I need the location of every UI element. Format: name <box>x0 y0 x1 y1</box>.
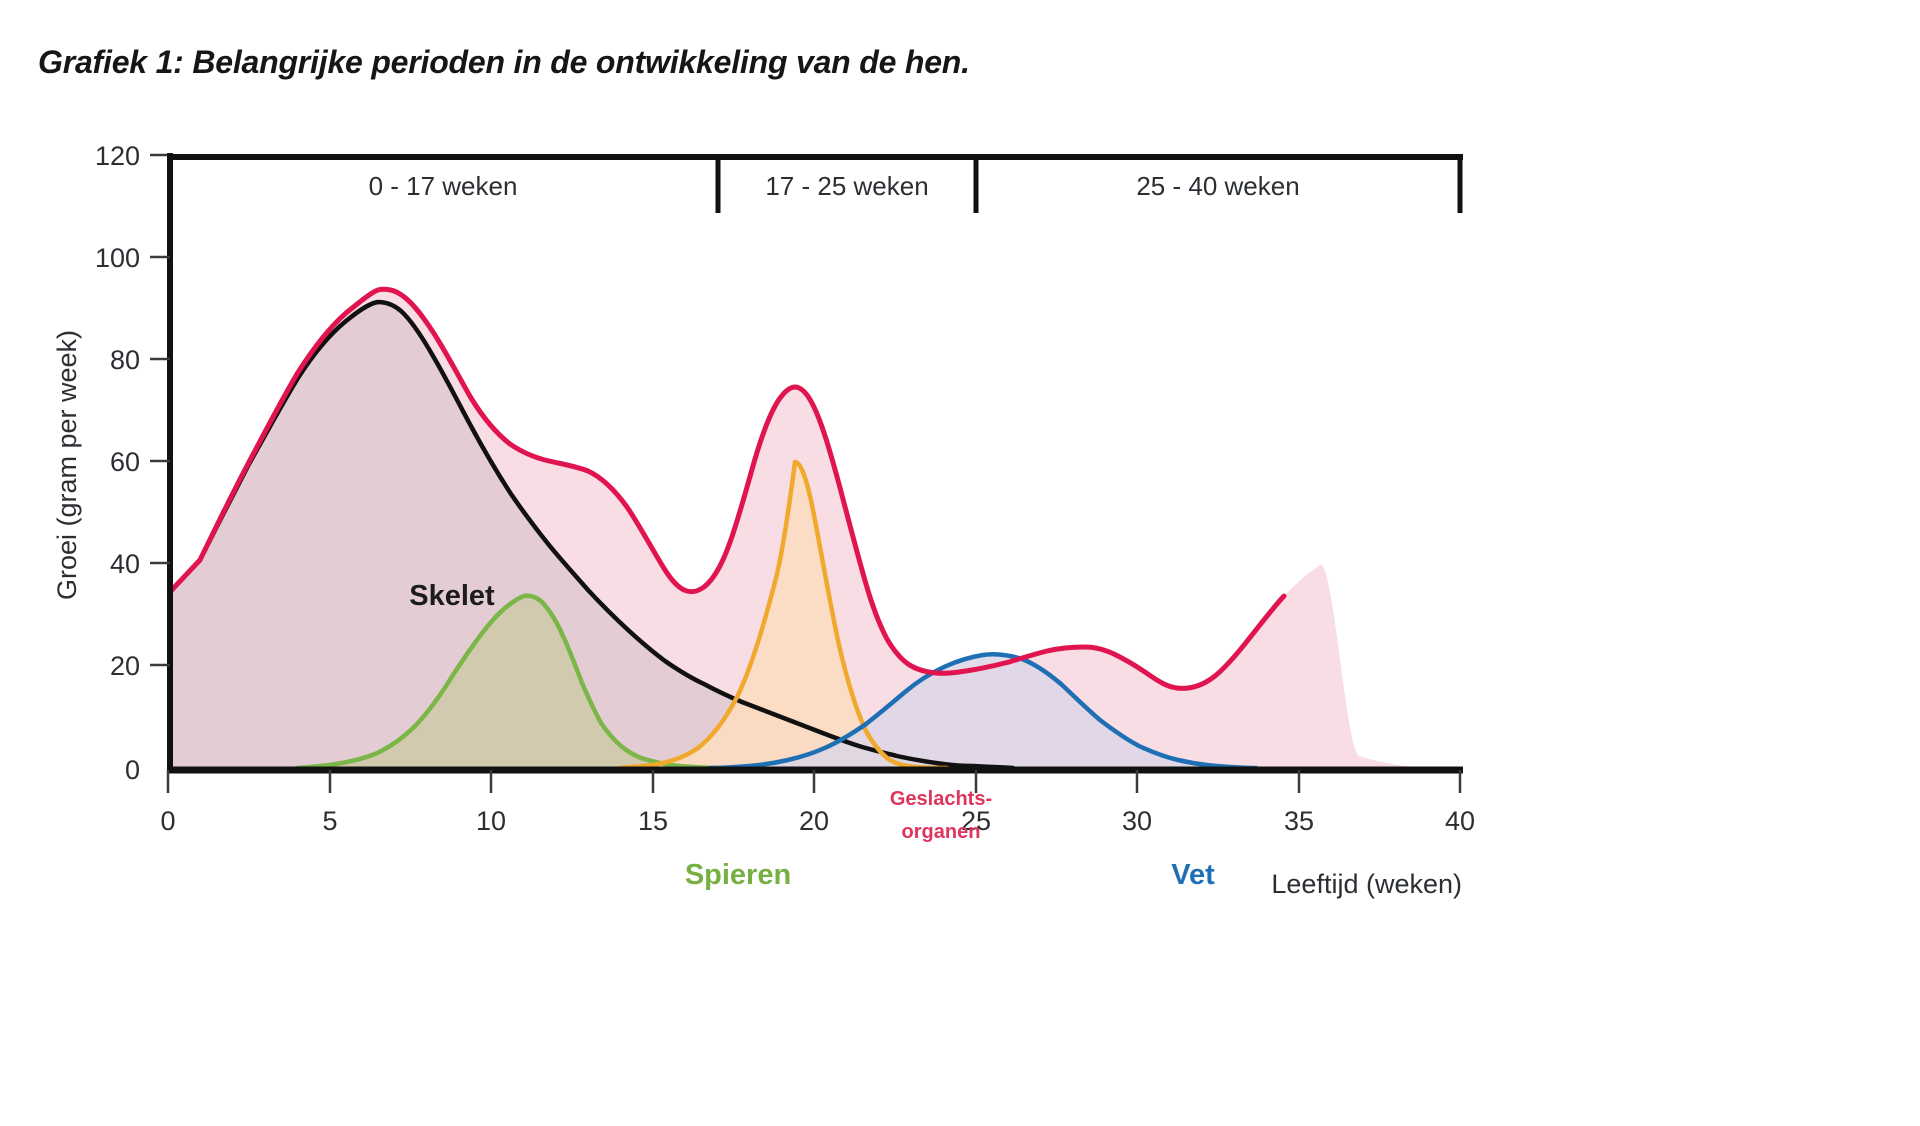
y-tick-20: 20 <box>110 651 140 681</box>
x-tick-0: 0 <box>160 806 175 836</box>
period-label-17-25: 17 - 25 weken <box>765 171 928 201</box>
series-label-skelet: Skelet <box>409 580 495 612</box>
x-tick-labels: 0 5 10 15 20 25 30 35 40 <box>160 806 1475 836</box>
period-band: 0 - 17 weken 17 - 25 weken 25 - 40 weken <box>167 157 1463 213</box>
series-label-geslachtsorganen-line1: Geslachts- <box>890 788 992 810</box>
x-tick-15: 15 <box>638 806 668 836</box>
x-tick-10: 10 <box>476 806 506 836</box>
y-tick-labels: 120 100 80 60 40 20 0 <box>95 141 140 785</box>
y-tick-0: 0 <box>125 755 140 785</box>
growth-chart-svg: 120 100 80 60 40 20 0 0 5 10 15 20 25 30… <box>0 0 1920 1126</box>
series-label-vet: Vet <box>1171 859 1215 891</box>
y-tick-80: 80 <box>110 345 140 375</box>
y-axis-title: Groei (gram per week) <box>52 330 82 600</box>
x-tick-40: 40 <box>1445 806 1475 836</box>
y-tick-100: 100 <box>95 243 140 273</box>
chart-figure: Grafiek 1: Belangrijke perioden in de on… <box>0 0 1920 1126</box>
y-tick-120: 120 <box>95 141 140 171</box>
series-areas <box>168 289 1460 768</box>
y-tick-40: 40 <box>110 549 140 579</box>
x-tick-35: 35 <box>1284 806 1314 836</box>
x-tick-5: 5 <box>322 806 337 836</box>
series-label-geslachtsorganen-line2: organen <box>902 821 981 843</box>
x-tick-20: 20 <box>799 806 829 836</box>
period-label-25-40: 25 - 40 weken <box>1136 171 1299 201</box>
series-label-spieren: Spieren <box>685 859 791 891</box>
x-axis-title: Leeftijd (weken) <box>1271 869 1462 899</box>
period-label-0-17: 0 - 17 weken <box>369 171 518 201</box>
y-tick-60: 60 <box>110 447 140 477</box>
x-tick-30: 30 <box>1122 806 1152 836</box>
